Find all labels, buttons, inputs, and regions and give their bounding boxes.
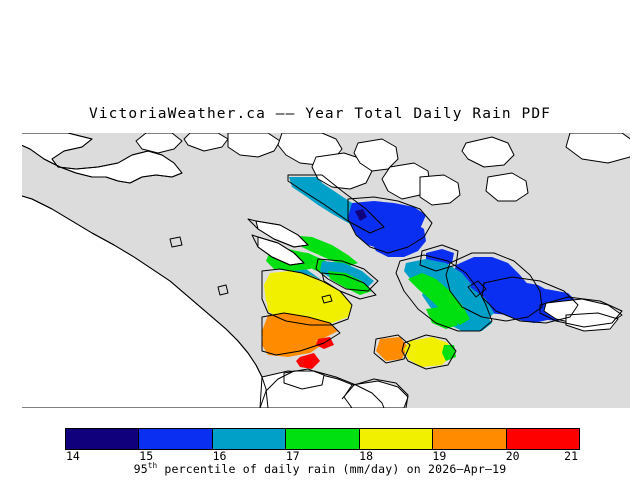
colorbar-tick-6: 20 [506,449,520,463]
land-north-island-j [462,137,514,167]
land-southwest-mainland [22,193,268,408]
colorbar-segment-20-21[interactable] [507,429,579,449]
colorbar-segment-17-18[interactable] [286,429,359,449]
page-title: VictoriaWeather.ca —— Year Total Daily R… [0,106,640,122]
colorbar-caption: 95th percentile of daily rain (mm/day) o… [0,462,640,476]
caption-rest: percentile of daily rain (mm/day) on 202… [157,462,506,476]
land-north-island-k [486,173,528,201]
colorbar-segment-19-20[interactable] [433,429,506,449]
colorbar-segment-16-17[interactable] [213,429,286,449]
coast-tiny-islet-b [218,285,228,295]
colorbar-tick-7: 21 [564,449,578,463]
colorbar-segment-15-16[interactable] [139,429,212,449]
screenshot-root: VictoriaWeather.ca —— Year Total Daily R… [0,0,640,480]
rainfall-patch-layer [262,177,578,369]
colorbar-tick-5: 19 [432,449,446,463]
colorbar-tick-4: 18 [359,449,373,463]
patch-red-spot-b [296,353,320,369]
map-graphic [22,133,630,408]
land-north-island-h [420,175,460,205]
colorbar-segment-18-19[interactable] [360,429,433,449]
land-north-island-i [566,133,630,163]
colorbar-tick-0: 14 [66,449,80,463]
colorbar-segment-14-15[interactable] [66,429,139,449]
colorbar[interactable] [65,428,580,450]
colorbar-tick-3: 17 [286,449,300,463]
land-north-island-a [136,133,182,153]
coast-tiny-islet-c [170,237,182,247]
land-north-island-c [228,133,280,157]
caption-superscript: th [148,461,157,470]
patch-small-orange-island [376,337,408,361]
colorbar-tick-2: 16 [213,449,227,463]
caption-prefix: 95 [134,462,148,476]
map-canvas[interactable] [22,133,630,408]
land-north-island-b [184,133,228,151]
